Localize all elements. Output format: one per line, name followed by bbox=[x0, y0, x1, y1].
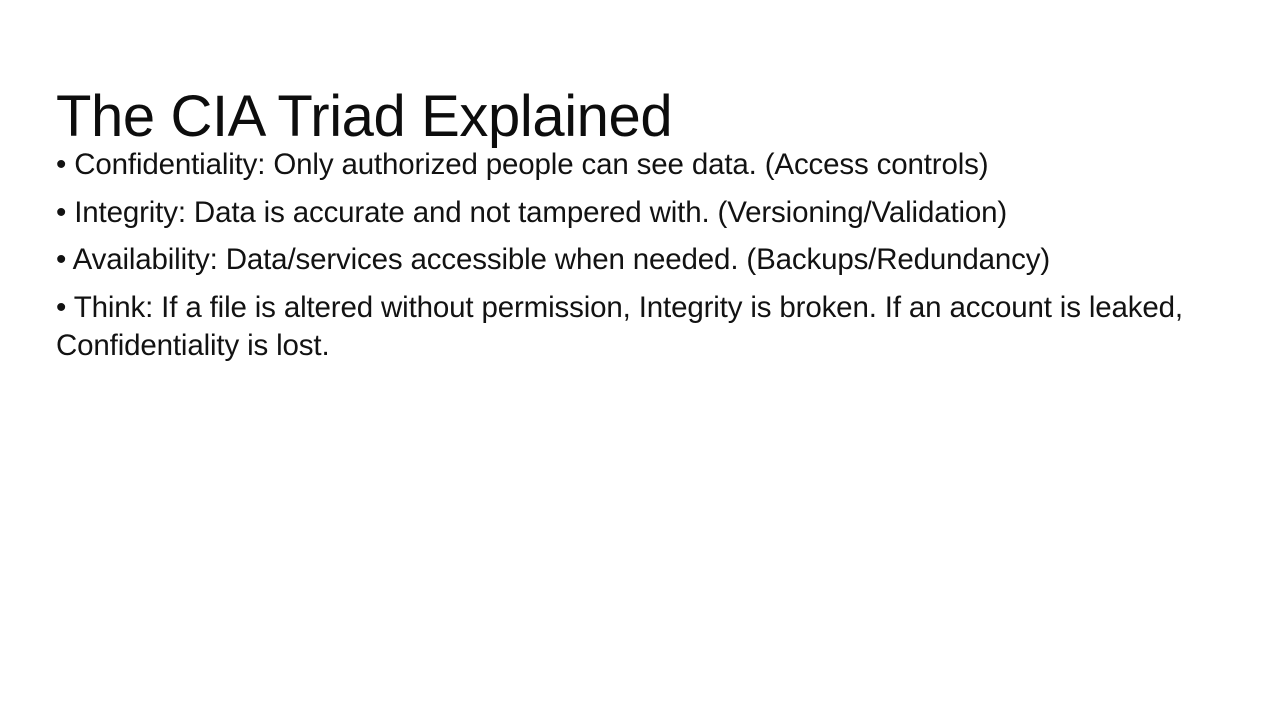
presentation-slide: The CIA Triad Explained • Confidentialit… bbox=[0, 0, 1280, 720]
page-title: The CIA Triad Explained bbox=[56, 86, 1226, 149]
bullet-dot-icon: • bbox=[56, 148, 74, 181]
bullet-dot-icon: • bbox=[56, 291, 74, 324]
bullet-item-label: Availability: Data/services accessible w… bbox=[73, 243, 1050, 276]
bullet-dot-icon: • bbox=[56, 243, 73, 276]
slide-body-text: • Confidentiality: Only authorized peopl… bbox=[56, 146, 1236, 365]
bullet-item-think: • Think: If a file is altered without pe… bbox=[56, 289, 1236, 365]
bullet-item-label: Think: If a file is altered without perm… bbox=[56, 291, 1183, 362]
bullet-item-availability: • Availability: Data/services accessible… bbox=[56, 241, 1236, 279]
bullet-dot-icon: • bbox=[56, 196, 74, 229]
bullet-item-label: Integrity: Data is accurate and not tamp… bbox=[74, 196, 1007, 229]
bullet-item-integrity: • Integrity: Data is accurate and not ta… bbox=[56, 194, 1236, 232]
bullet-item-confidentiality: • Confidentiality: Only authorized peopl… bbox=[56, 146, 1236, 184]
bullet-item-label: Confidentiality: Only authorized people … bbox=[74, 148, 988, 181]
